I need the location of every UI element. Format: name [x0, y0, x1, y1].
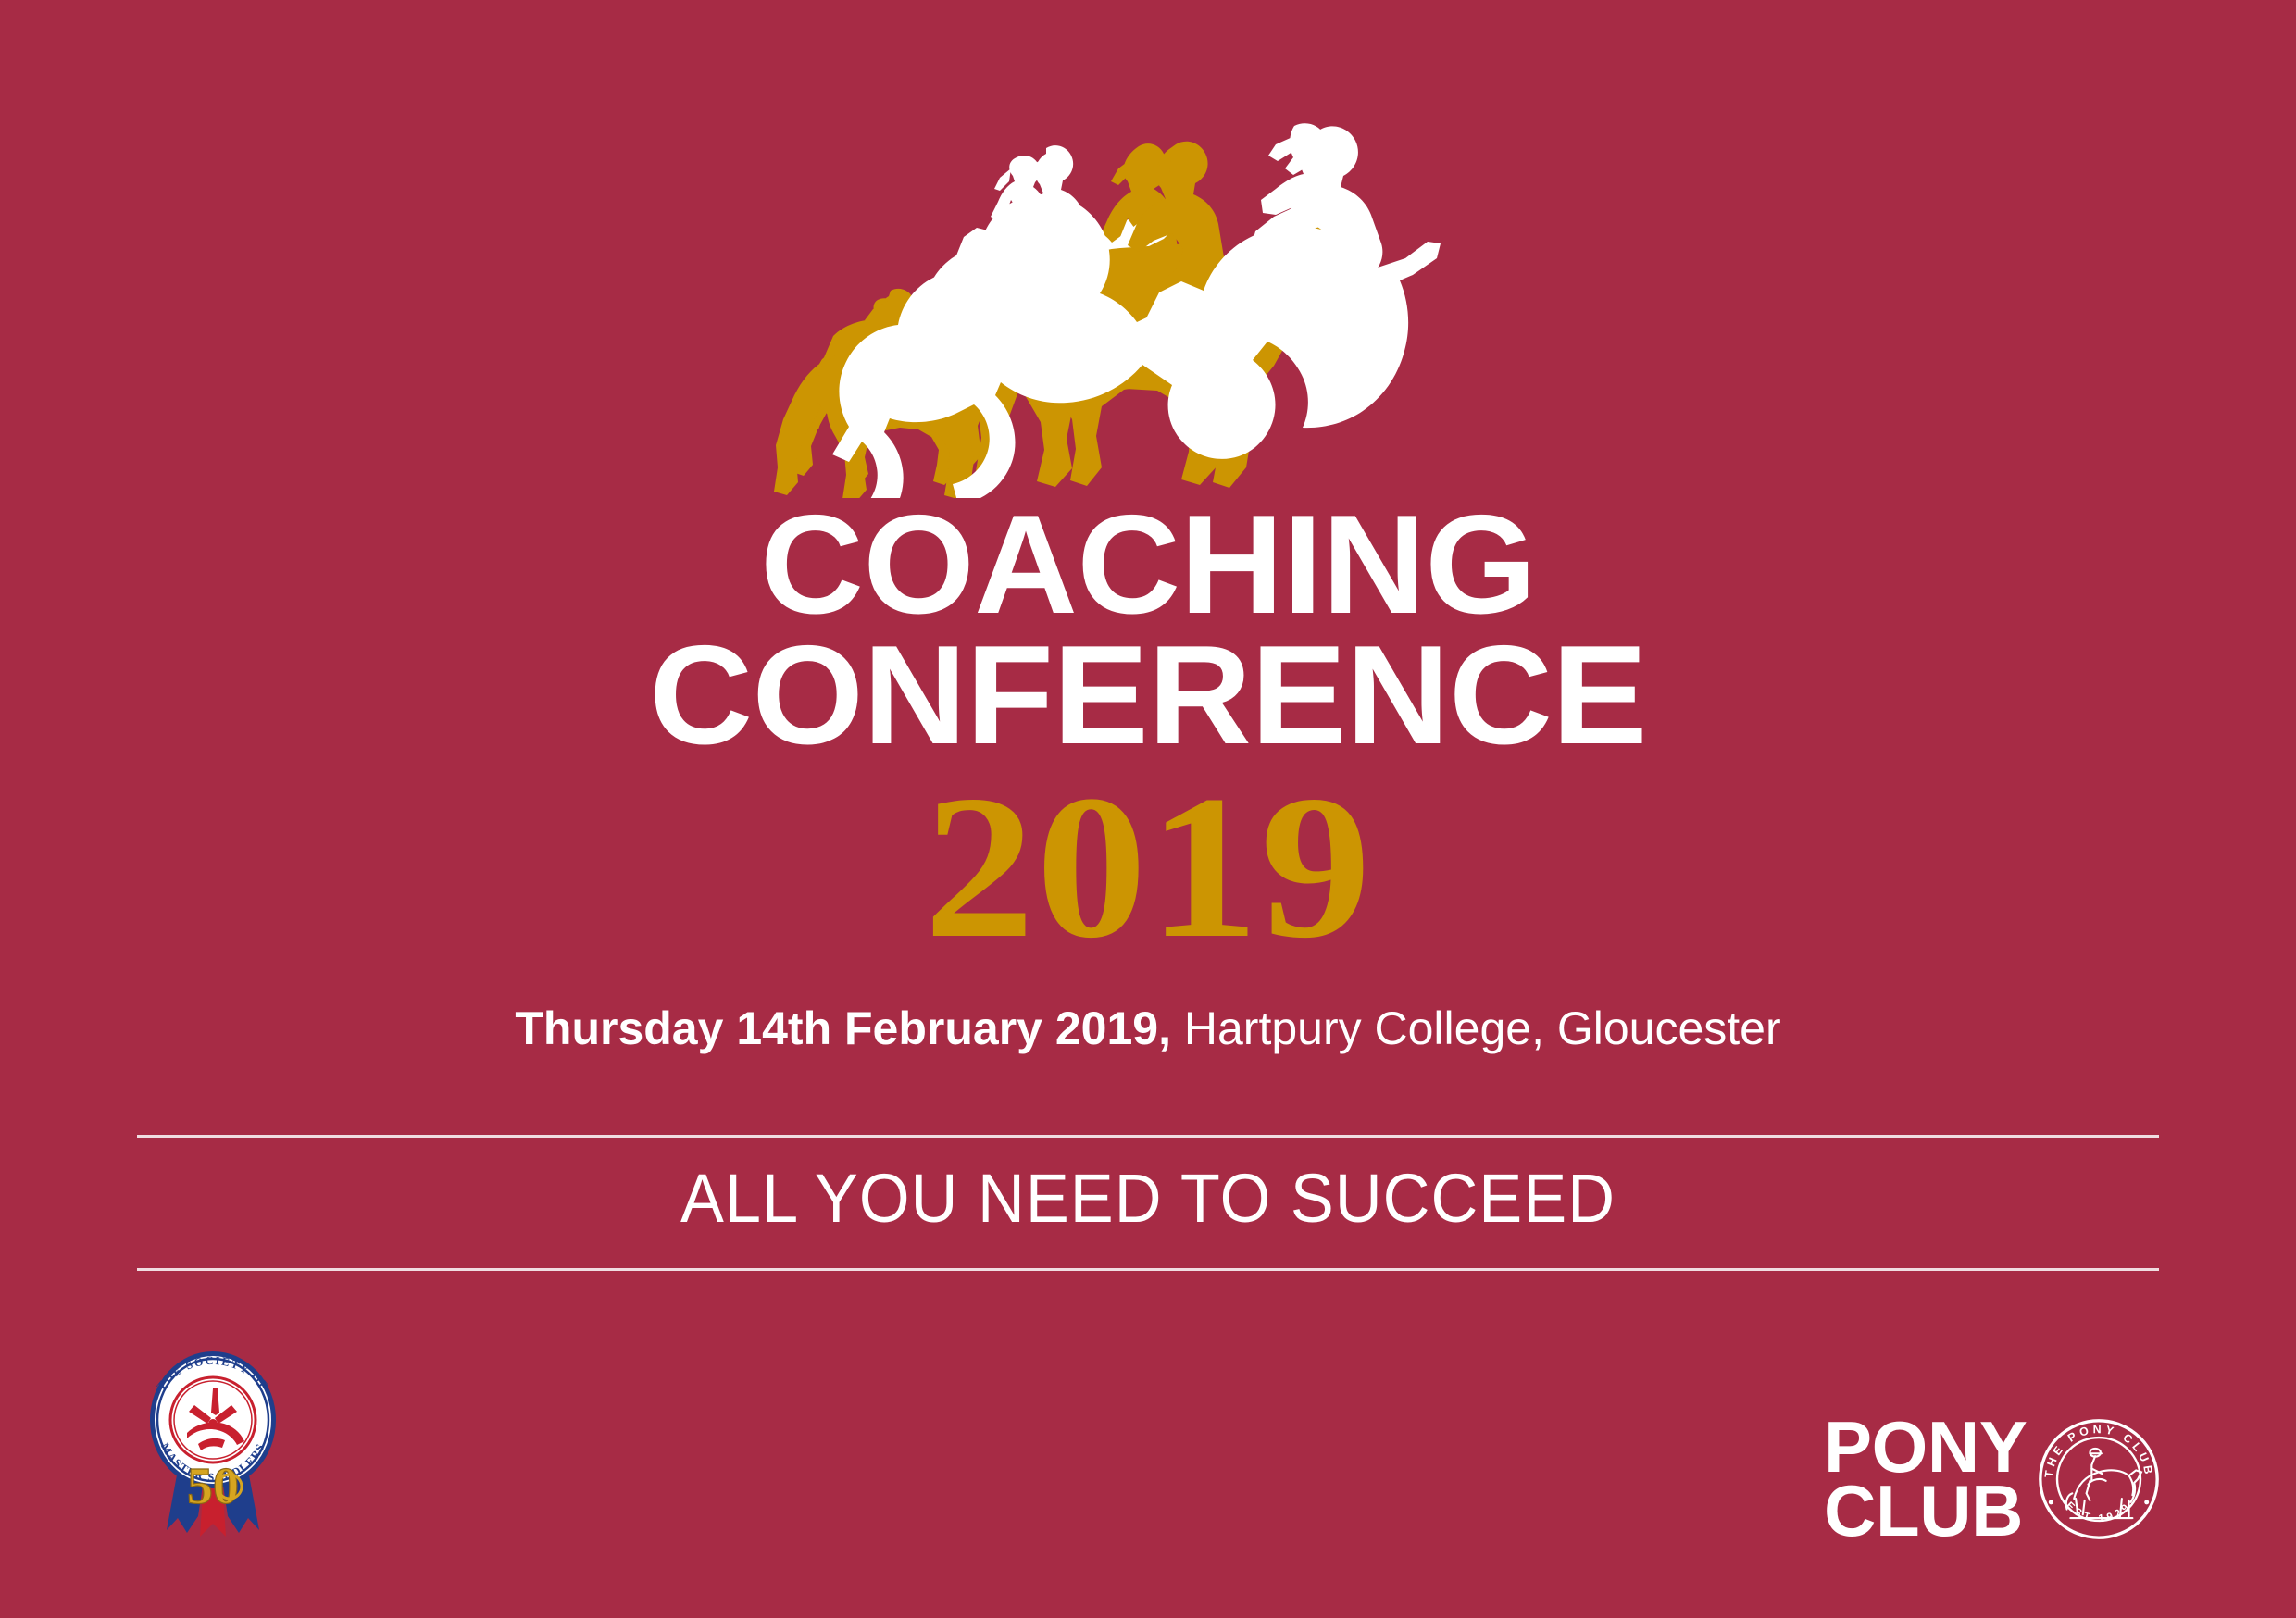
- divider-bottom: [137, 1268, 2159, 1271]
- pony-club-word-club: CLUB: [1824, 1479, 2028, 1543]
- pony-club-badge-bottom-text: EST 1929: [2063, 1500, 2133, 1525]
- tagline: ALL YOU NEED TO SUCCEED: [57, 1159, 2239, 1238]
- divider-top: [137, 1135, 2159, 1138]
- pony-club-wordmark: PONY CLUB: [1824, 1415, 2028, 1542]
- pony-club-badge: THE PONY CLUB EST 1929: [2037, 1417, 2161, 1541]
- master-saddlers-logo: THE SOCIETY OF MASTER SADDLERS 50: [130, 1340, 296, 1553]
- pony-club-logo: PONY CLUB: [1824, 1414, 2157, 1544]
- horse-riders-artwork-visible: [768, 109, 1528, 498]
- event-date: Thursday 14th February 2019,: [515, 1002, 1171, 1054]
- title-year: 2019: [0, 773, 2296, 962]
- event-venue: Hartpury College, Gloucester: [1171, 1002, 1781, 1054]
- title-line-coaching: COACHING: [0, 500, 2296, 630]
- date-and-venue: Thursday 14th February 2019, Hartpury Co…: [0, 1003, 2296, 1054]
- svg-text:50: 50: [187, 1458, 239, 1515]
- title-line-conference: CONFERENCE: [0, 630, 2296, 761]
- saddlers-50th-anniversary-emblem: 50: [187, 1458, 242, 1515]
- title-block: COACHING CONFERENCE 2019: [0, 500, 2296, 962]
- poster-canvas: COACHING CONFERENCE 2019 Thursday 14th F…: [0, 0, 2296, 1618]
